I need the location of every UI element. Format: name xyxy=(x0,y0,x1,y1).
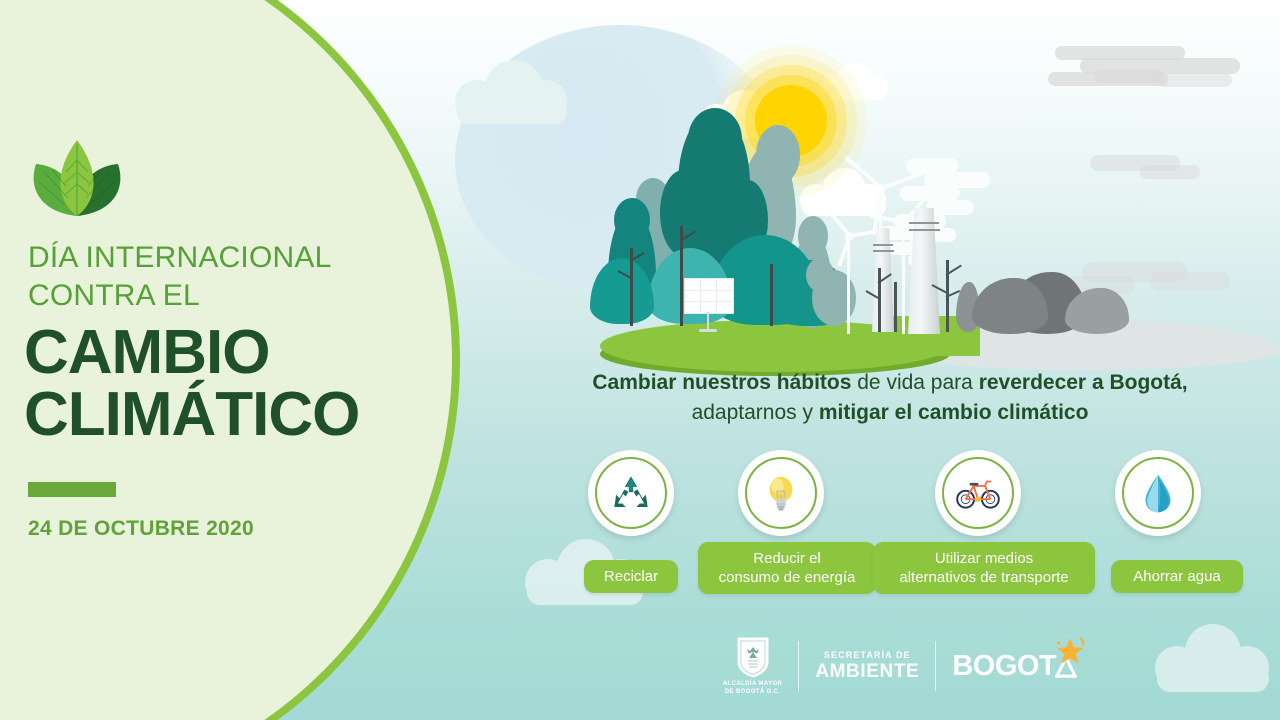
key-message: Cambiar nuestros hábitos de vida para re… xyxy=(540,368,1240,428)
secretaria-ambiente-logo: SECRETARÍA DE AMBIENTE xyxy=(815,651,919,681)
smoke-icon xyxy=(900,186,960,201)
tree-icon xyxy=(806,258,834,292)
alcaldia-logo: ALCALDÍA MAYOR DE BOGOTÁ D.C. xyxy=(723,636,783,696)
footer-logo-bar: ALCALDÍA MAYOR DE BOGOTÁ D.C. SECRETARÍA… xyxy=(700,628,1100,704)
smokestack-band xyxy=(909,229,940,231)
tree-icon xyxy=(688,108,742,170)
page-title: CAMBIO CLIMÁTICO xyxy=(24,322,484,446)
wind-turbine-icon xyxy=(832,220,864,330)
tree-icon xyxy=(798,216,828,256)
smokestack-band xyxy=(909,222,939,224)
tree-trunk xyxy=(770,264,773,326)
tree-icon xyxy=(660,170,706,256)
star-icon xyxy=(1055,637,1081,663)
climate-illustration xyxy=(560,20,1280,370)
tree-icon xyxy=(614,198,650,242)
smokestack-band xyxy=(873,244,893,246)
recycle-icon xyxy=(588,450,674,536)
bare-tree-icon xyxy=(878,268,881,332)
page-kicker: DÍA INTERNACIONAL CONTRA EL xyxy=(28,239,388,315)
bicycle-icon xyxy=(935,450,1021,536)
badge-energia[interactable] xyxy=(738,450,824,536)
secretaria-line-2: AMBIENTE xyxy=(815,662,919,681)
smokestack-band xyxy=(873,250,894,252)
message-part-3: reverdecer a Bogotá, xyxy=(979,371,1188,394)
headline-line-2: CLIMÁTICO xyxy=(24,384,484,446)
kicker-line-1: DÍA INTERNACIONAL xyxy=(28,239,388,277)
badge-transporte[interactable] xyxy=(935,450,1021,536)
badge-agua[interactable] xyxy=(1115,450,1201,536)
footer-divider xyxy=(935,641,936,691)
poster-canvas: DÍA INTERNACIONAL CONTRA EL CAMBIO CLIMÁ… xyxy=(0,0,1280,720)
left-panel-content: DÍA INTERNACIONAL CONTRA EL CAMBIO CLIMÁ… xyxy=(0,0,400,720)
water-drop-icon xyxy=(1115,450,1201,536)
bogota-text: BOGOT xyxy=(952,650,1056,682)
action-label-agua: Ahorrar agua xyxy=(1111,560,1243,593)
kicker-line-2: CONTRA EL xyxy=(28,277,388,315)
headline-line-1: CAMBIO xyxy=(24,322,484,384)
secretaria-line-1: SECRETARÍA DE xyxy=(815,651,919,660)
action-label-reciclar: Reciclar xyxy=(584,560,678,593)
action-label-transporte: Utilizar medios alternativos de transpor… xyxy=(873,542,1095,594)
bare-tree-icon xyxy=(894,282,897,332)
message-part-2: de vida para xyxy=(851,371,978,394)
event-date: 24 DE OCTUBRE 2020 xyxy=(28,517,254,541)
three-leaves-icon xyxy=(22,132,132,218)
badge-reciclar[interactable] xyxy=(588,450,674,536)
actions-row: Reciclar Reducir el consumo de en xyxy=(560,450,1260,600)
crest-line-1: ALCALDÍA MAYOR xyxy=(723,681,783,689)
grey-hill-icon xyxy=(972,278,1048,334)
message-part-5: mitigar el cambio climático xyxy=(819,401,1089,424)
footer-divider xyxy=(798,641,799,691)
message-part-4: adaptarnos y xyxy=(692,401,819,424)
lightbulb-icon xyxy=(738,450,824,536)
bogota-coat-of-arms-icon xyxy=(736,636,770,678)
crest-line-2: DE BOGOTÁ D.C. xyxy=(723,689,783,697)
alcaldia-text: ALCALDÍA MAYOR DE BOGOTÁ D.C. xyxy=(723,681,783,696)
bogota-wordmark: BOGOT xyxy=(952,650,1077,683)
action-label-energia: Reducir el consumo de energía xyxy=(698,542,876,594)
tree-icon xyxy=(756,125,800,185)
title-rule xyxy=(28,482,116,497)
message-part-1: Cambiar nuestros hábitos xyxy=(592,371,851,394)
